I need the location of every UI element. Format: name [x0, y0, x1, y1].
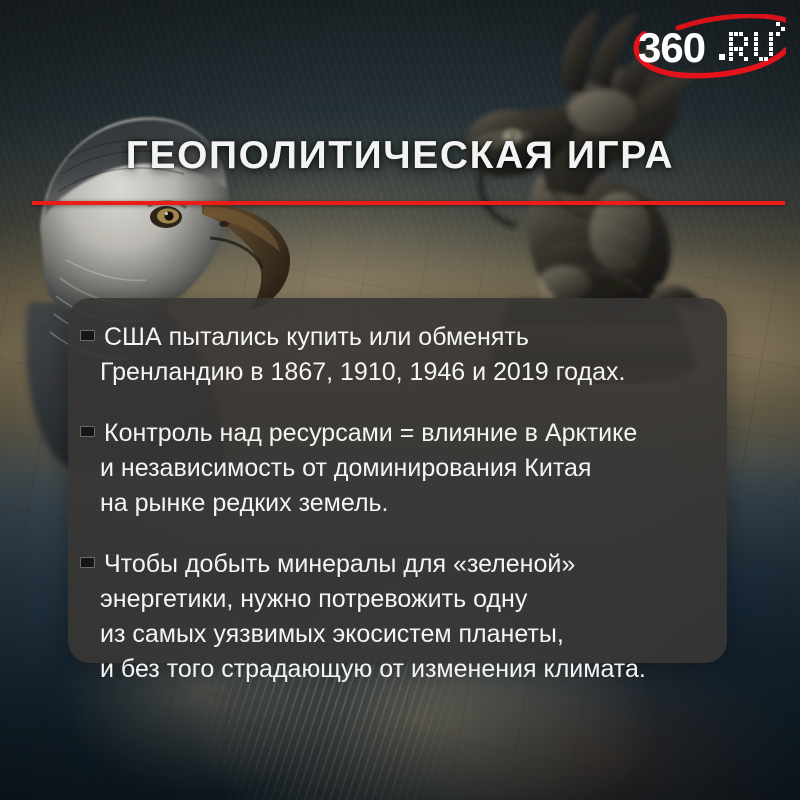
bullet-line: Контроль над ресурсами = влияние в Аркти… [104, 419, 637, 447]
bullet-line: из самых уязвимых экосистем планеты, [100, 620, 564, 648]
bullet-line: и независимость от доминирования Китая [100, 454, 591, 482]
bullet-square-icon [80, 426, 95, 437]
facts-card: США пытались купить или обменять Гренлан… [68, 298, 727, 663]
bullet-line: на рынке редких земель. [100, 489, 389, 517]
svg-text:360: 360 [638, 24, 705, 71]
bullet-line: Чтобы добыть минералы для «зеленой» [104, 550, 575, 578]
bullet-line: Гренландию в 1867, 1910, 1946 и 2019 год… [100, 358, 625, 386]
list-item: Чтобы добыть минералы для «зеленой» энер… [80, 547, 701, 687]
poster: 360 [0, 0, 800, 800]
brand-logo-360ru[interactable]: 360 [626, 14, 786, 84]
bullet-square-icon [80, 557, 95, 568]
bullet-line: энергетики, нужно потревожить одну [100, 585, 527, 613]
list-item: США пытались купить или обменять Гренлан… [80, 320, 701, 390]
bullet-line: и без того страдающую от изменения клима… [100, 655, 646, 683]
title-underline-rule [32, 201, 785, 205]
page-title: ГЕОПОЛИТИЧЕСКАЯ ИГРА [0, 134, 800, 178]
bullet-square-icon [80, 330, 95, 341]
list-item: Контроль над ресурсами = влияние в Аркти… [80, 416, 701, 521]
bullet-line: США пытались купить или обменять [104, 323, 529, 351]
